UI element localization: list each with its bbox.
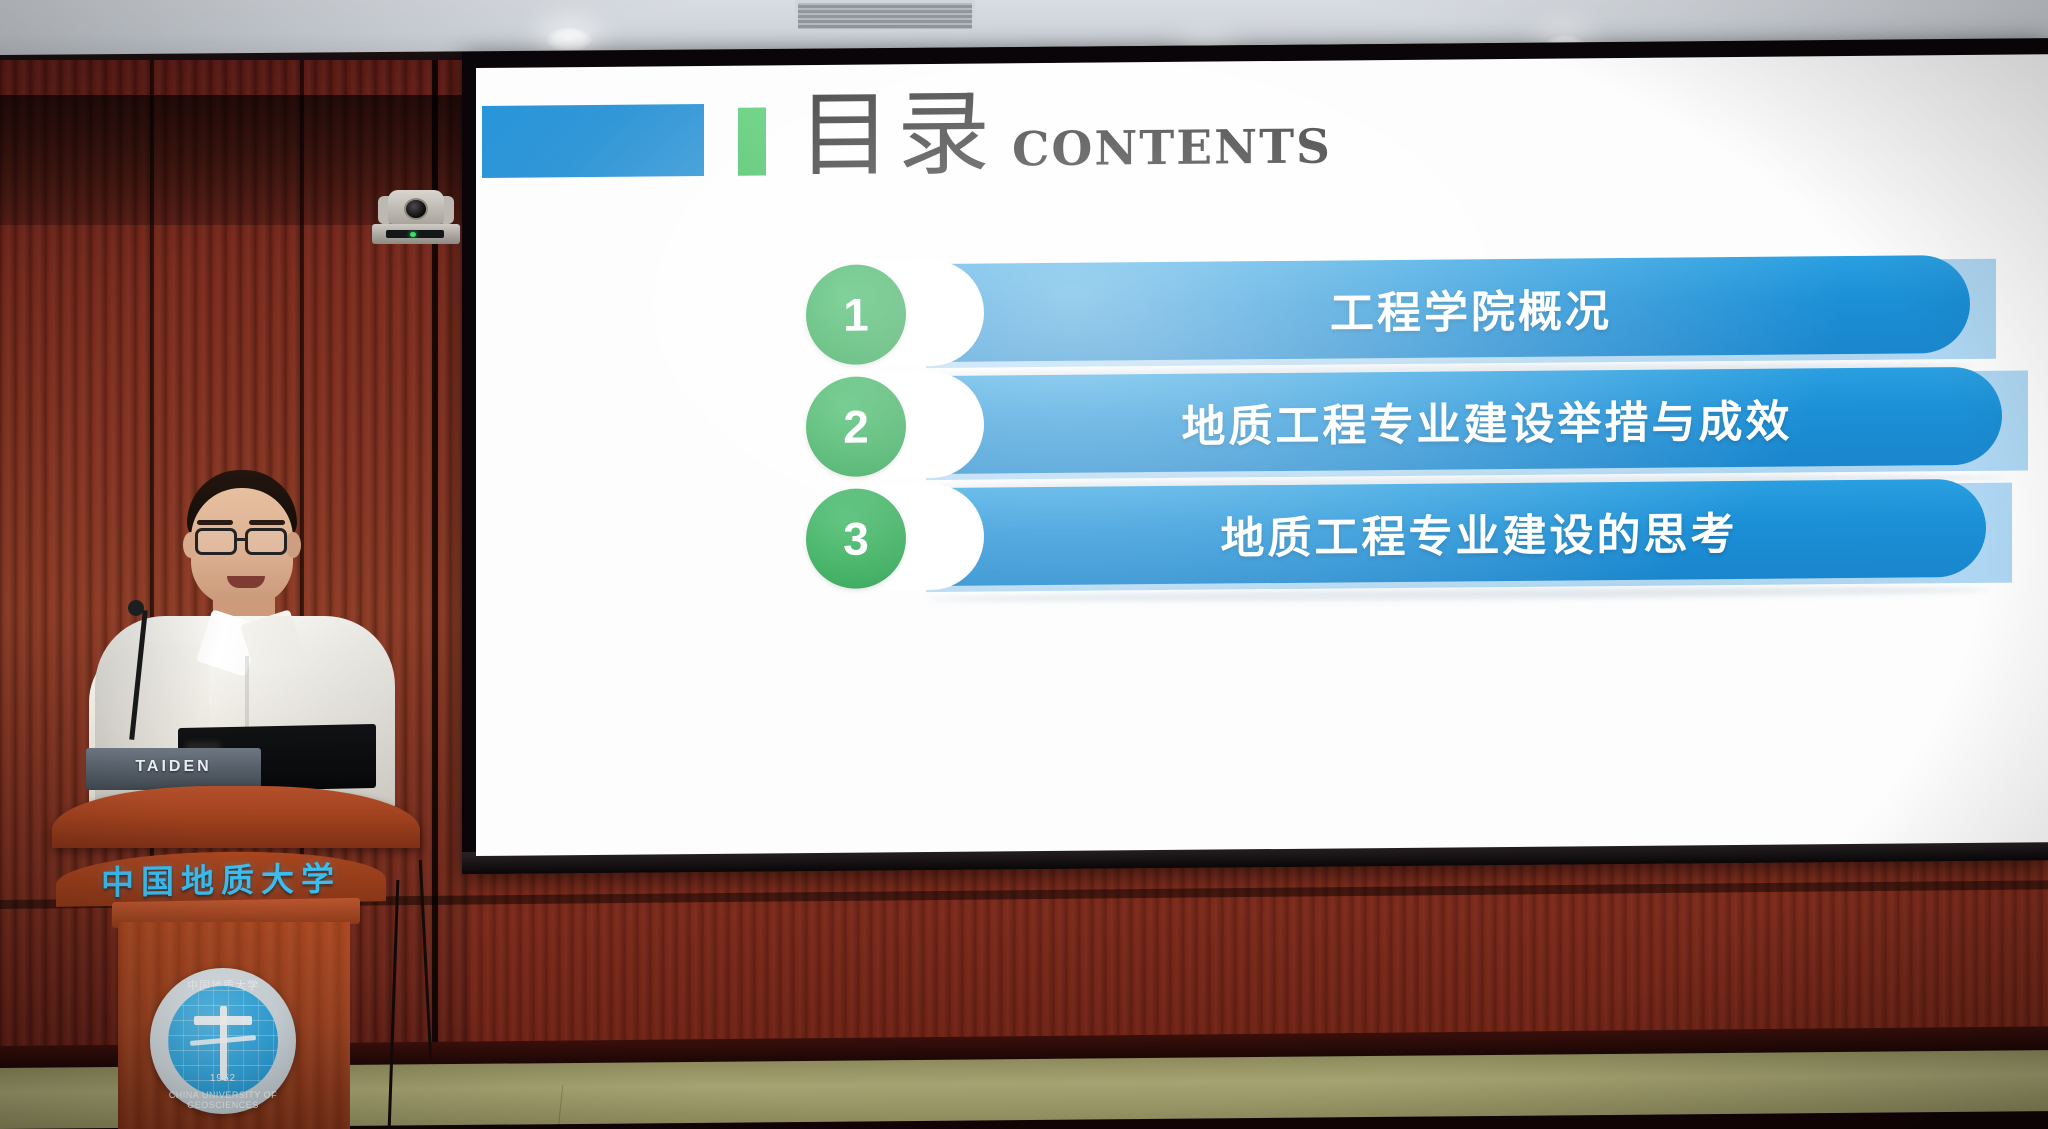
presenter-eyebrow-right xyxy=(249,520,285,525)
presenter-eyebrow-left xyxy=(197,520,233,525)
agenda-item-1[interactable]: 1 工程学院概况 xyxy=(806,255,1996,373)
agenda-item-3[interactable]: 3 地质工程专业建设的思考 xyxy=(806,479,2012,598)
university-emblem: 中国地质大学 1952 CHINA UNIVERSITY OF GEOSCIEN… xyxy=(150,968,296,1114)
ceiling-air-vent xyxy=(795,0,975,32)
camera-lens-icon xyxy=(404,198,428,220)
microphone-brand-label: TAIDEN xyxy=(86,758,261,776)
lecture-hall-photo: 目录 CONTENTS 1 工程学院概况 2 xyxy=(0,0,2048,1129)
presenter-glasses-right-lens xyxy=(245,528,287,555)
agenda-list: 1 工程学院概况 2 地质工程专业建设举措与成效 3 xyxy=(476,54,2048,856)
camera-status-led xyxy=(410,232,416,237)
agenda-item-label: 地质工程专业建设的思考 xyxy=(986,479,1972,586)
agenda-item-label: 工程学院概况 xyxy=(986,255,1956,361)
presenter-glasses-bridge xyxy=(236,538,247,541)
presenter-glasses-left-lens xyxy=(195,528,237,555)
presenter-mouth xyxy=(227,576,265,588)
agenda-item-number-badge: 3 xyxy=(806,488,906,589)
agenda-item-label: 地质工程专业建设举措与成效 xyxy=(986,367,1988,474)
projection-screen[interactable]: 目录 CONTENTS 1 工程学院概况 2 xyxy=(476,54,2048,856)
agenda-item-number: 3 xyxy=(843,516,869,562)
presenter-ear-right xyxy=(285,532,301,558)
emblem-english-name: CHINA UNIVERSITY OF GEOSCIENCES xyxy=(150,1090,296,1110)
ceiling-downlight xyxy=(546,26,592,52)
agenda-item-2[interactable]: 2 地质工程专业建设举措与成效 xyxy=(806,366,2028,485)
ptz-camera-icon xyxy=(372,190,460,252)
agenda-item-number: 1 xyxy=(843,292,869,338)
emblem-hammer-handle-icon xyxy=(220,1006,227,1080)
emblem-founding-year: 1952 xyxy=(168,1073,278,1084)
agenda-item-number: 2 xyxy=(843,404,869,450)
emblem-globe-icon: 1952 xyxy=(168,986,278,1096)
agenda-item-number-badge: 1 xyxy=(806,264,906,365)
agenda-item-number-badge: 2 xyxy=(806,376,906,477)
